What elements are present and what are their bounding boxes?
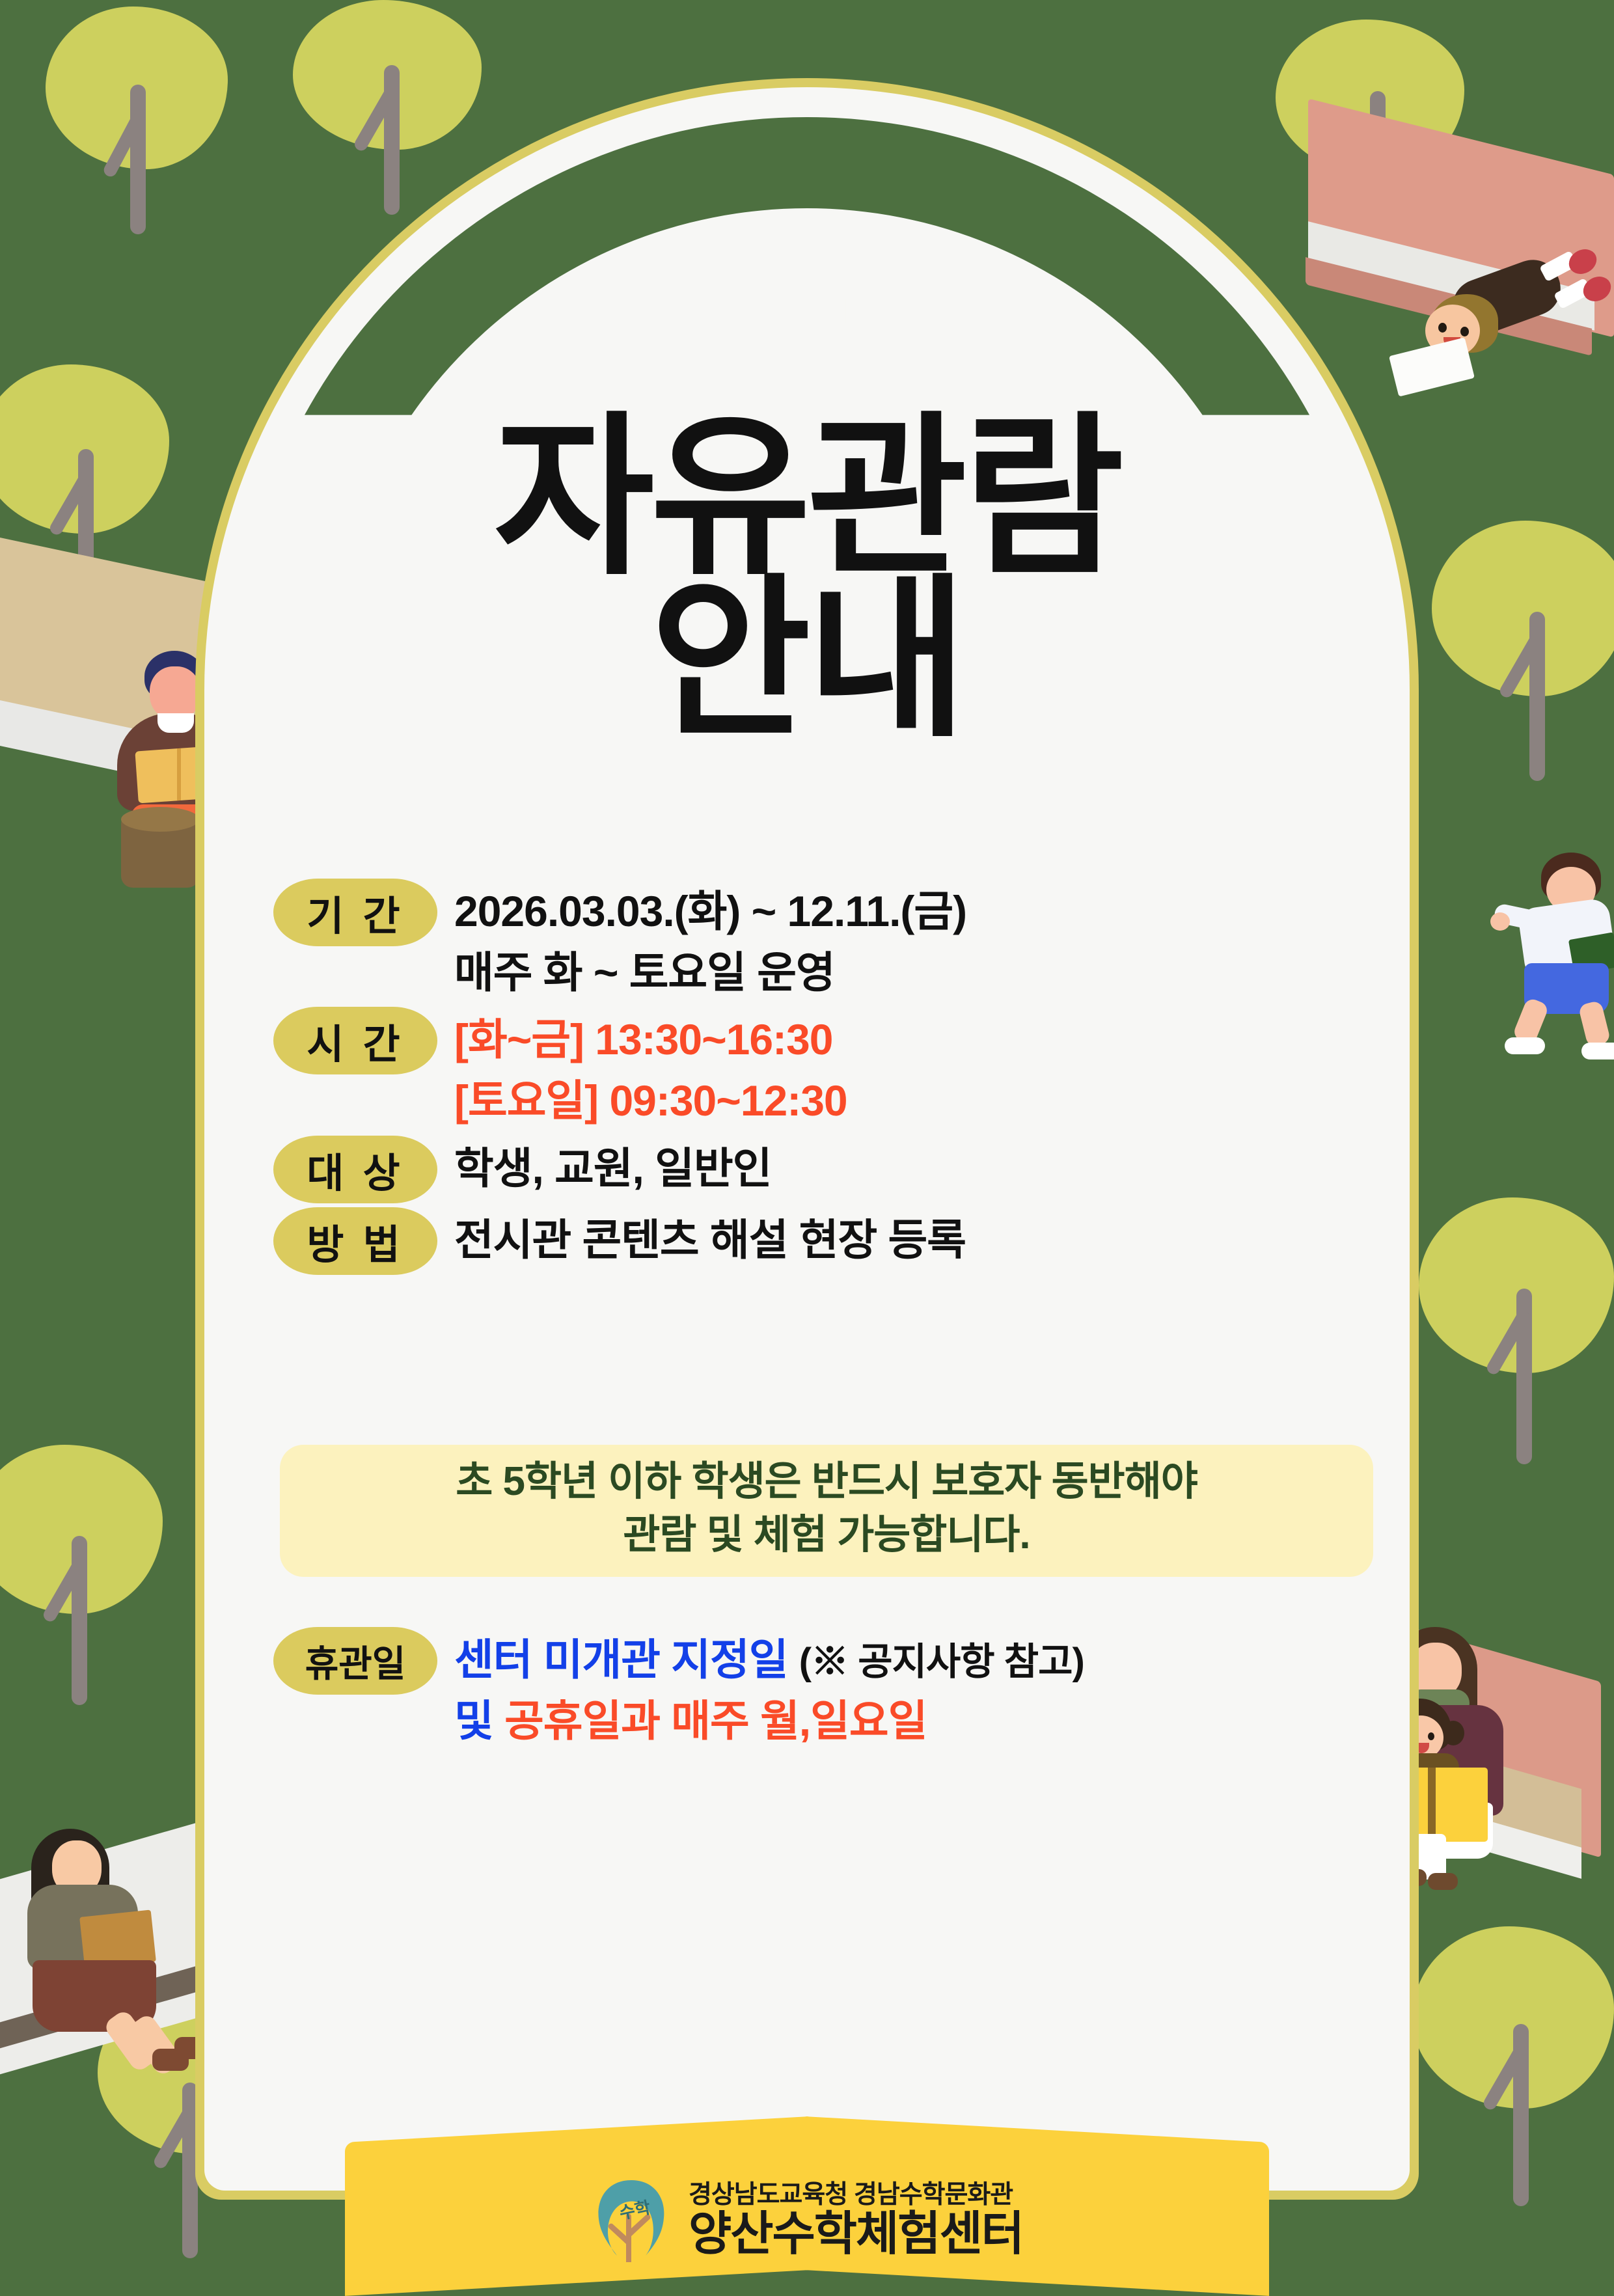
page-title: 자유관람 안내 [195, 417, 1419, 741]
poster-canvas: 2026년 자유관람 안내 기 간 2026.03.03.(화) ~ 12.11… [0, 0, 1614, 2283]
label-audience: 대 상 [273, 1136, 437, 1203]
info-row-period: 기 간 2026.03.03.(화) ~ 12.11.(금) 매주 화 ~ 토요… [273, 879, 1380, 1003]
stump-top [121, 807, 199, 832]
note-line-2: 관람 및 체험 가능합니다. [299, 1509, 1354, 1562]
values-period: 2026.03.03.(화) ~ 12.11.(금) 매주 화 ~ 토요일 운영 [454, 879, 966, 1003]
info-row-time: 시 간 [화~금] 13:30~16:30 [토요일] 09:30~12:30 [273, 1007, 1380, 1131]
book-spine [177, 748, 181, 800]
closed-days-conjunction: 및 [454, 1697, 493, 1745]
values-audience: 학생, 교원, 일반인 [454, 1136, 771, 1199]
time-saturday: [토요일] 09:30~12:30 [454, 1071, 847, 1132]
label-period: 기 간 [273, 879, 437, 946]
method-value: 전시관 콘텐츠 해설 현장 등록 [454, 1210, 966, 1271]
footer-center-name: 양산수학체험센터 [689, 2209, 1023, 2260]
info-row-audience: 대 상 학생, 교원, 일반인 [273, 1136, 1380, 1203]
audience-value: 학생, 교원, 일반인 [454, 1138, 771, 1199]
footer-logo: 수학 경상남도교육청 경남수학문화관 양산수학체험센터 [345, 2176, 1269, 2265]
shoe [1581, 1043, 1614, 1059]
tree-logo-icon: 수학 [591, 2176, 672, 2265]
pigtail [1442, 1721, 1464, 1745]
tree-decoration [1419, 521, 1614, 794]
period-weekdays: 매주 화 ~ 토요일 운영 [454, 942, 966, 1004]
info-row-method: 방 법 전시관 콘텐츠 해설 현장 등록 [273, 1207, 1380, 1275]
info-rows: 기 간 2026.03.03.(화) ~ 12.11.(금) 매주 화 ~ 토요… [273, 879, 1380, 1279]
book-spine [1428, 1768, 1436, 1842]
closed-days-holidays: 공휴일과 매주 월,일요일 [504, 1697, 927, 1745]
closed-days-line-2: 및 공휴일과 매주 월,일요일 [454, 1691, 1084, 1752]
shoe [1505, 1037, 1545, 1054]
eye [1438, 323, 1447, 333]
footer-org-line: 경상남도교육청 경남수학문화관 [689, 2181, 1023, 2209]
period-dates: 2026.03.03.(화) ~ 12.11.(금) [454, 881, 966, 942]
closed-days-notice-ref: (※ 공지사항 참고) [799, 1641, 1084, 1683]
illustration-boy-walking-with-book [1490, 853, 1614, 1067]
footer-logo-text: 경상남도교육청 경남수학문화관 양산수학체험센터 [689, 2181, 1023, 2260]
title-line-2: 안내 [195, 579, 1419, 741]
closed-days-values: 센터 미개관 지정일 (※ 공지사항 참고) 및 공휴일과 매주 월,일요일 [454, 1627, 1084, 1751]
closed-days-section: 휴관일 센터 미개관 지정일 (※ 공지사항 참고) 및 공휴일과 매주 월,일… [273, 1627, 1419, 1755]
tree-decoration [0, 1445, 189, 1718]
eye [1460, 327, 1469, 336]
footer-book-banner: 수학 경상남도교육청 경남수학문화관 양산수학체험센터 [345, 2114, 1269, 2283]
title-line-1: 자유관람 [195, 417, 1419, 579]
closed-days-line-1: 센터 미개관 지정일 (※ 공지사항 참고) [454, 1630, 1084, 1691]
tree-decoration [1399, 1197, 1614, 1477]
label-method: 방 법 [273, 1207, 437, 1275]
tree-decoration [1386, 1926, 1614, 2213]
woman-reading [26, 1822, 221, 2070]
closed-days-row: 휴관일 센터 미개관 지정일 (※ 공지사항 참고) 및 공휴일과 매주 월,일… [273, 1627, 1419, 1751]
year-label: 2026년 [195, 280, 1419, 351]
closed-days-designated: 센터 미개관 지정일 [454, 1635, 787, 1684]
shoe [1428, 1873, 1458, 1890]
hand [1490, 912, 1510, 931]
shoe [1579, 272, 1614, 306]
values-time: [화~금] 13:30~16:30 [토요일] 09:30~12:30 [454, 1007, 847, 1131]
time-weekday: [화~금] 13:30~16:30 [454, 1009, 847, 1071]
label-time: 시 간 [273, 1007, 437, 1074]
collar [157, 713, 194, 733]
values-method: 전시관 콘텐츠 해설 현장 등록 [454, 1207, 966, 1271]
guardian-note: 초 5학년 이하 학생은 반드시 보호자 동반해야 관람 및 체험 가능합니다. [280, 1445, 1373, 1577]
note-line-1: 초 5학년 이하 학생은 반드시 보호자 동반해야 [299, 1455, 1354, 1509]
label-closed-days: 휴관일 [273, 1627, 437, 1695]
arch-panel: 2026년 자유관람 안내 기 간 2026.03.03.(화) ~ 12.11… [195, 78, 1419, 2200]
eye [1428, 1732, 1434, 1740]
face [150, 666, 200, 720]
girl-reading [1406, 254, 1614, 397]
